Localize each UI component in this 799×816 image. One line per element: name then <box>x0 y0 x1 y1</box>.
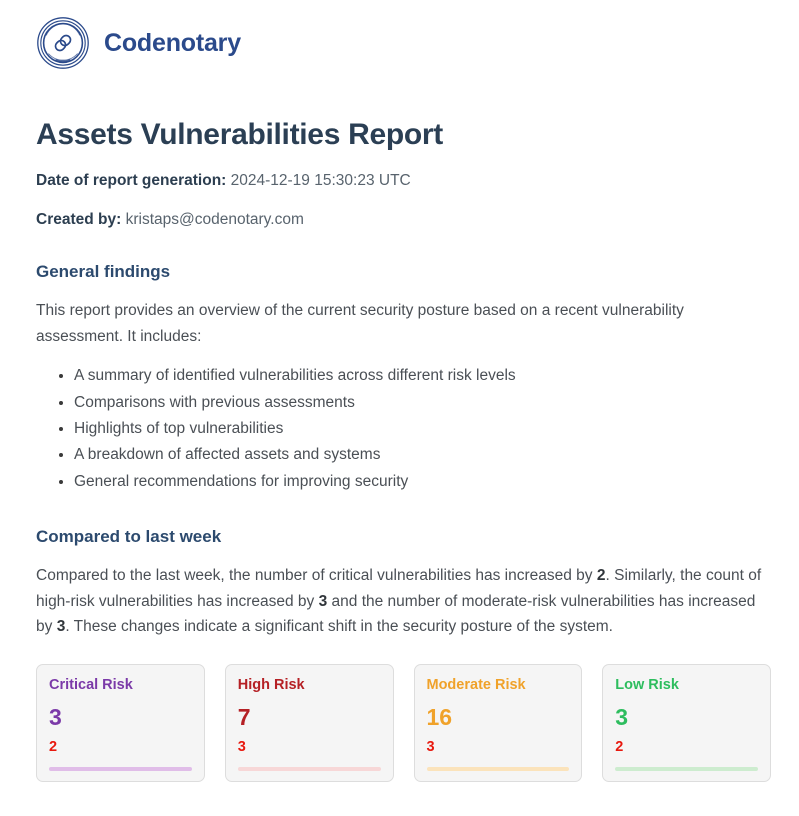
high-delta-inline: 3 <box>319 593 328 610</box>
risk-card-delta: 2 <box>615 740 758 756</box>
section-title-general-findings: General findings <box>36 262 771 282</box>
compared-to-last-week-text: Compared to the last week, the number of… <box>36 563 771 640</box>
risk-card-moderate[interactable]: Moderate Risk 16 3 <box>414 664 583 782</box>
risk-card-delta: 3 <box>427 740 570 756</box>
comparison-text-part-1: Compared to the last week, the number of… <box>36 567 597 584</box>
page-title: Assets Vulnerabilities Report <box>36 118 771 152</box>
risk-card-critical[interactable]: Critical Risk 3 2 <box>36 664 205 782</box>
brand-header: Codenotary <box>36 0 771 76</box>
brand-name: Codenotary <box>104 29 241 58</box>
risk-card-low[interactable]: Low Risk 3 2 <box>602 664 771 782</box>
risk-card-count: 3 <box>49 705 192 730</box>
comparison-text-part-4: . These changes indicate a significant s… <box>65 618 613 635</box>
report-page: Codenotary Assets Vulnerabilities Report… <box>0 0 799 782</box>
general-findings-list: A summary of identified vulnerabilities … <box>36 363 771 495</box>
risk-card-count: 7 <box>238 705 381 730</box>
report-date-line: Date of report generation: 2024-12-19 15… <box>36 171 771 191</box>
risk-card-label: High Risk <box>238 678 381 694</box>
risk-card-progress-bar <box>615 767 758 771</box>
list-item: A summary of identified vulnerabilities … <box>74 363 771 389</box>
report-date-value: 2024-12-19 15:30:23 UTC <box>231 172 411 189</box>
risk-card-progress-bar <box>238 767 381 771</box>
report-date-label: Date of report generation: <box>36 172 226 189</box>
risk-card-label: Low Risk <box>615 678 758 694</box>
list-item: General recommendations for improving se… <box>74 469 771 495</box>
list-item: Highlights of top vulnerabilities <box>74 416 771 442</box>
risk-summary-cards: Critical Risk 3 2 High Risk 7 3 Moderate… <box>36 664 771 782</box>
risk-card-label: Critical Risk <box>49 678 192 694</box>
critical-delta-inline: 2 <box>597 567 606 584</box>
risk-card-label: Moderate Risk <box>427 678 570 694</box>
report-author-line: Created by: kristaps@codenotary.com <box>36 210 771 230</box>
codenotary-chain-seal-icon <box>36 16 90 70</box>
risk-card-delta: 3 <box>238 740 381 756</box>
section-title-compared-to-last-week: Compared to last week <box>36 527 771 547</box>
risk-card-count: 16 <box>427 705 570 730</box>
risk-card-progress-bar <box>427 767 570 771</box>
risk-card-high[interactable]: High Risk 7 3 <box>225 664 394 782</box>
list-item: A breakdown of affected assets and syste… <box>74 442 771 468</box>
report-author-value: kristaps@codenotary.com <box>126 211 304 228</box>
risk-card-delta: 2 <box>49 740 192 756</box>
report-author-label: Created by: <box>36 211 121 228</box>
risk-card-count: 3 <box>615 705 758 730</box>
list-item: Comparisons with previous assessments <box>74 390 771 416</box>
risk-card-progress-bar <box>49 767 192 771</box>
general-findings-intro: This report provides an overview of the … <box>36 298 771 349</box>
